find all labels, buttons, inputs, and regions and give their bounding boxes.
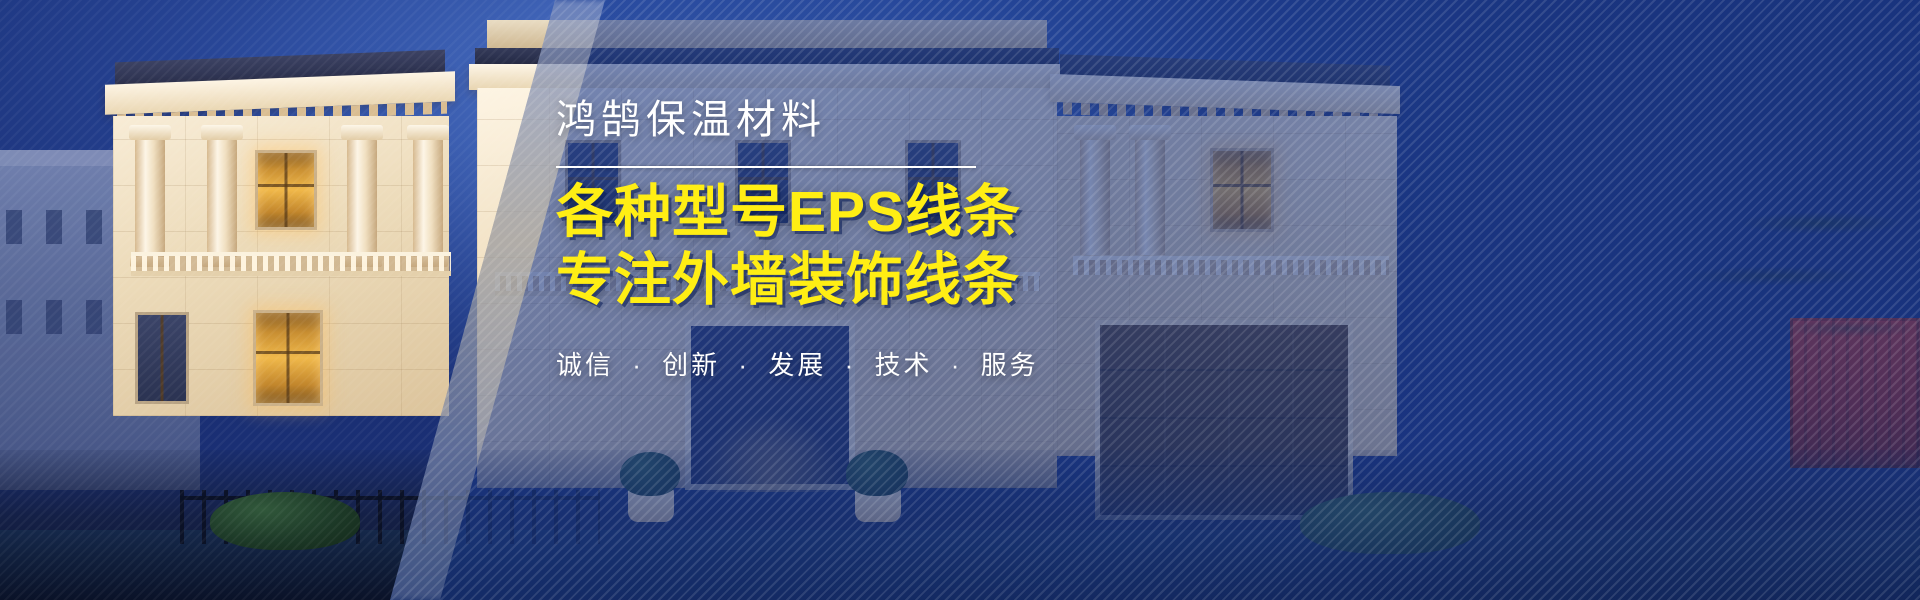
lit-window (253, 310, 323, 406)
tagline-separator: · (738, 350, 750, 380)
column (413, 138, 443, 258)
lit-window (255, 150, 317, 230)
tagline-item: 服务 (981, 350, 1039, 380)
tagline-item: 发展 (768, 350, 826, 380)
column (347, 138, 377, 258)
tagline-item: 创新 (662, 350, 720, 380)
dark-window (135, 312, 189, 404)
tagline-separator: · (951, 350, 963, 380)
text-divider (556, 166, 976, 168)
shrub (210, 492, 360, 550)
tagline: 诚信 · 创新 · 发展 · 技术 · 服务 (556, 345, 1256, 382)
column (207, 138, 237, 258)
tagline-item: 技术 (874, 350, 932, 380)
brand-name: 鸿鹄保温材料 (556, 96, 1256, 144)
headline-line-1: 各种型号EPS线条 (556, 180, 1021, 244)
tagline-item: 诚信 (556, 350, 614, 380)
headline: 各种型号EPS线条 专注外墙装饰线条 (556, 182, 1256, 311)
headline-line-2: 专注外墙装饰线条 (556, 250, 1256, 312)
tagline-separator: · (632, 350, 644, 380)
column (135, 138, 165, 258)
banner-text-block: 鸿鹄保温材料 各种型号EPS线条 专注外墙装饰线条 诚信 · 创新 · 发展 ·… (556, 96, 1256, 382)
tagline-separator: · (845, 350, 857, 380)
hero-banner: 鸿鹄保温材料 各种型号EPS线条 专注外墙装饰线条 诚信 · 创新 · 发展 ·… (0, 0, 1920, 600)
balcony-railing (131, 252, 451, 276)
